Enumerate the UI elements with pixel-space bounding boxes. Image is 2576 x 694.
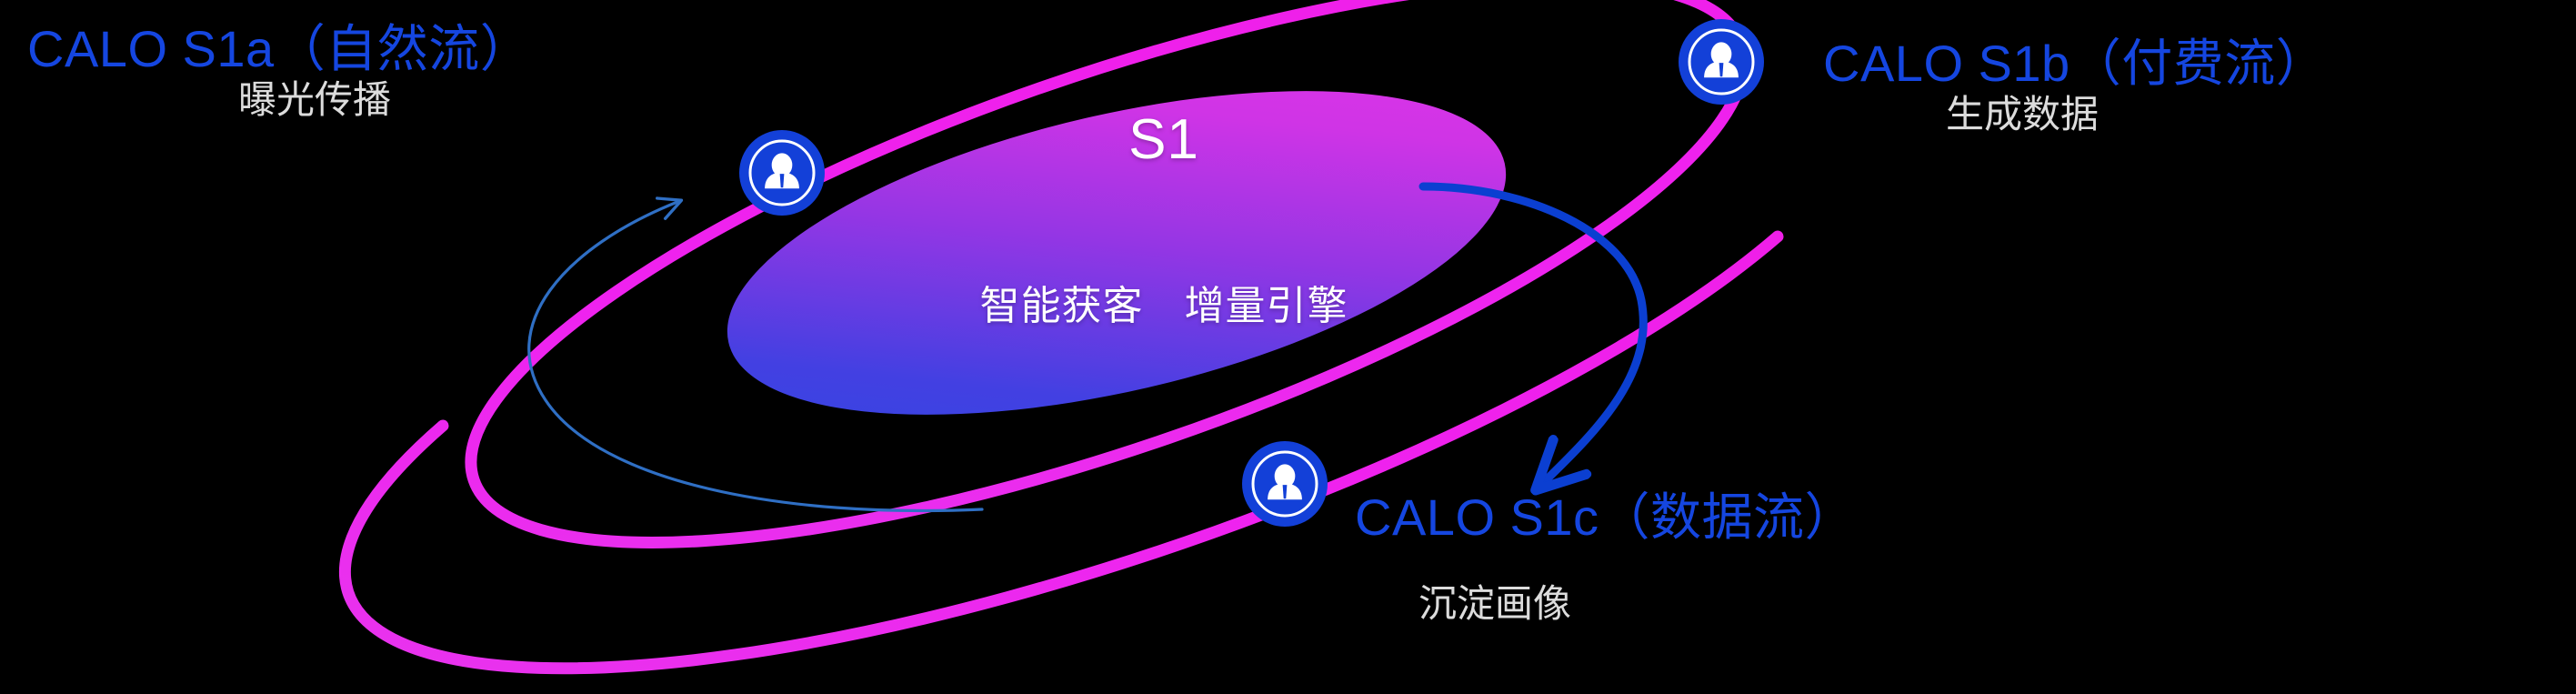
flow-subtitle-s1a: 曝光传播 (238, 78, 391, 122)
flow-subtitle-s1b: 生成数据 (1946, 93, 2099, 136)
node-s1b[interactable] (1679, 19, 1764, 105)
flow-title-s1a: CALO S1a（自然流） (27, 20, 531, 78)
core-title: S1 (946, 107, 1382, 172)
node-s1c[interactable] (1242, 441, 1328, 527)
flow-title-s1b: CALO S1b（付费流） (1823, 35, 2327, 93)
flow-title-s1c: CALO S1c（数据流） (1355, 488, 1856, 547)
core-subtitle: 智能获客 增量引擎 (818, 273, 1509, 331)
flow-subtitle-s1c: 沉淀画像 (1418, 582, 1571, 626)
core-ellipse (697, 28, 1536, 477)
diagram-canvas: S1 智能获客 增量引擎 CALO S1a（自然流） 曝光传播 CALO S1b… (0, 0, 2576, 694)
node-s1a[interactable] (739, 130, 825, 216)
